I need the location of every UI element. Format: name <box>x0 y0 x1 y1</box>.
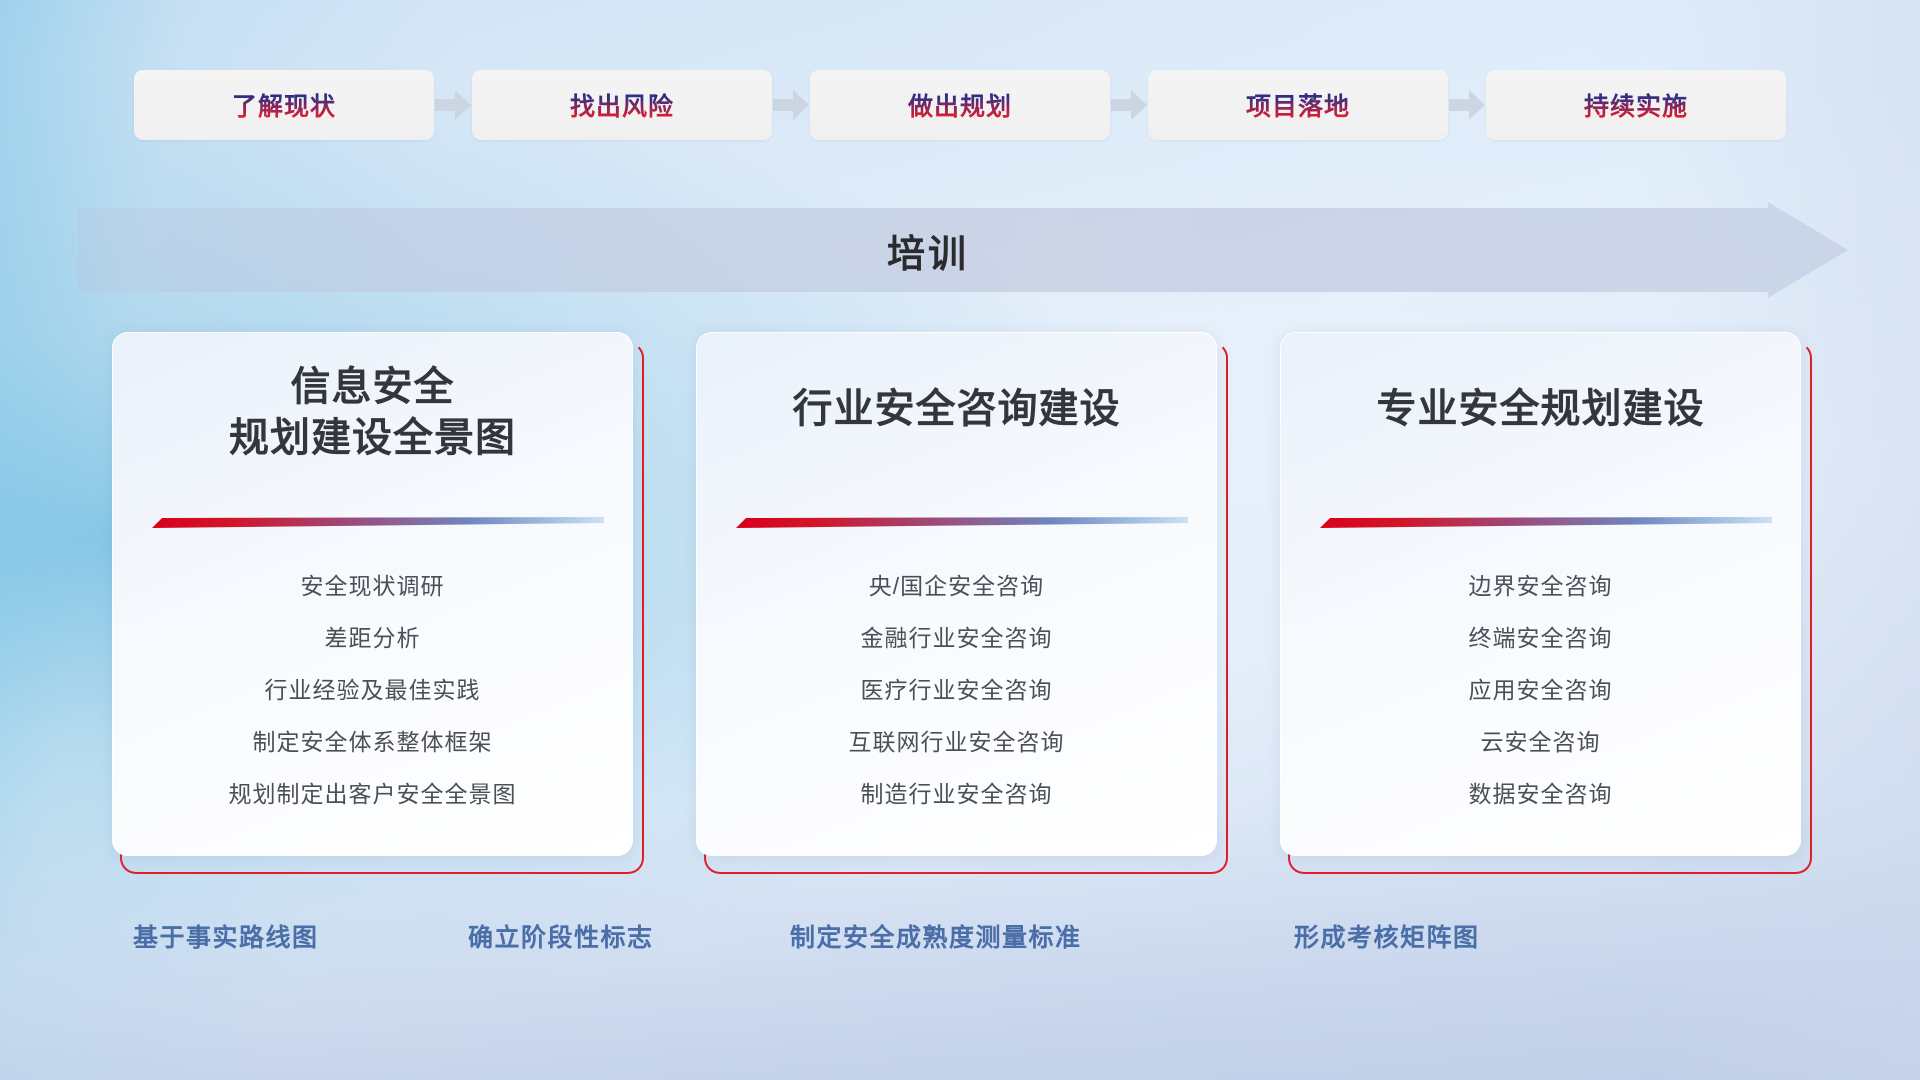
card-2-title: 行业安全咨询建设 <box>696 384 1217 435</box>
card-2-title-line-1: 行业安全咨询建设 <box>696 384 1217 435</box>
process-step-1-label: 了解现状 <box>232 87 336 123</box>
card-3-divider <box>1312 514 1772 530</box>
bottom-label-2: 确立阶段性标志 <box>468 918 654 954</box>
list-item: 行业经验及最佳实践 <box>112 664 633 716</box>
card-1-body: 信息安全 规划建设全景图 安全现状调研 差 <box>112 332 633 856</box>
bottom-label-4: 形成考核矩阵图 <box>1294 918 1480 954</box>
process-arrow-icon-1 <box>434 70 472 140</box>
list-item: 医疗行业安全咨询 <box>696 664 1217 716</box>
card-2-list: 央/国企安全咨询 金融行业安全咨询 医疗行业安全咨询 互联网行业安全咨询 制造行… <box>696 560 1217 820</box>
bottom-label-1: 基于事实路线图 <box>133 918 319 954</box>
card-1-title-line-2: 规划建设全景图 <box>112 413 633 464</box>
card-3[interactable]: 专业安全规划建设 边界安全咨询 终端安全咨询 <box>1280 332 1808 870</box>
process-step-4-label: 项目落地 <box>1246 87 1350 123</box>
process-arrow-icon-2 <box>772 70 810 140</box>
list-item: 应用安全咨询 <box>1280 664 1801 716</box>
list-item: 终端安全咨询 <box>1280 612 1801 664</box>
card-1-title: 信息安全 规划建设全景图 <box>112 362 633 464</box>
training-banner-label-wrap: 培训 <box>78 202 1778 298</box>
list-item: 规划制定出客户安全全景图 <box>112 768 633 820</box>
card-1-list: 安全现状调研 差距分析 行业经验及最佳实践 制定安全体系整体框架 规划制定出客户… <box>112 560 633 820</box>
list-item: 制造行业安全咨询 <box>696 768 1217 820</box>
list-item: 金融行业安全咨询 <box>696 612 1217 664</box>
process-step-5-label: 持续实施 <box>1584 87 1688 123</box>
list-item: 央/国企安全咨询 <box>696 560 1217 612</box>
card-3-list: 边界安全咨询 终端安全咨询 应用安全咨询 云安全咨询 数据安全咨询 <box>1280 560 1801 820</box>
process-step-2-label: 找出风险 <box>570 87 674 123</box>
list-item: 边界安全咨询 <box>1280 560 1801 612</box>
card-1-title-line-1: 信息安全 <box>112 362 633 413</box>
process-steps-row: 了解现状 找出风险 做出规划 项目落地 持续实施 <box>0 60 1920 150</box>
card-2[interactable]: 行业安全咨询建设 央/国企安全咨询 金融行业安全咨询 <box>696 332 1224 870</box>
bottom-labels-row: 基于事实路线图 确立阶段性标志 制定安全成熟度测量标准 形成考核矩阵图 <box>0 918 1920 968</box>
training-banner: 培训 <box>78 202 1848 298</box>
card-1-divider <box>144 514 604 530</box>
process-arrow-icon-4 <box>1448 70 1486 140</box>
bottom-label-3: 制定安全成熟度测量标准 <box>790 918 1082 954</box>
training-banner-label: 培训 <box>887 223 969 278</box>
card-3-title: 专业安全规划建设 <box>1280 384 1801 435</box>
process-step-4[interactable]: 项目落地 <box>1148 70 1448 140</box>
card-2-divider <box>728 514 1188 530</box>
list-item: 互联网行业安全咨询 <box>696 716 1217 768</box>
process-step-5[interactable]: 持续实施 <box>1486 70 1786 140</box>
card-2-body: 行业安全咨询建设 央/国企安全咨询 金融行业安全咨询 <box>696 332 1217 856</box>
list-item: 数据安全咨询 <box>1280 768 1801 820</box>
cards-row: 信息安全 规划建设全景图 安全现状调研 差 <box>0 332 1920 872</box>
list-item: 云安全咨询 <box>1280 716 1801 768</box>
process-step-2[interactable]: 找出风险 <box>472 70 772 140</box>
process-arrow-icon-3 <box>1110 70 1148 140</box>
process-step-3-label: 做出规划 <box>908 87 1012 123</box>
list-item: 差距分析 <box>112 612 633 664</box>
process-step-3[interactable]: 做出规划 <box>810 70 1110 140</box>
card-1[interactable]: 信息安全 规划建设全景图 安全现状调研 差 <box>112 332 640 870</box>
list-item: 安全现状调研 <box>112 560 633 612</box>
process-step-1[interactable]: 了解现状 <box>134 70 434 140</box>
card-3-body: 专业安全规划建设 边界安全咨询 终端安全咨询 <box>1280 332 1801 856</box>
card-3-title-line-1: 专业安全规划建设 <box>1280 384 1801 435</box>
list-item: 制定安全体系整体框架 <box>112 716 633 768</box>
